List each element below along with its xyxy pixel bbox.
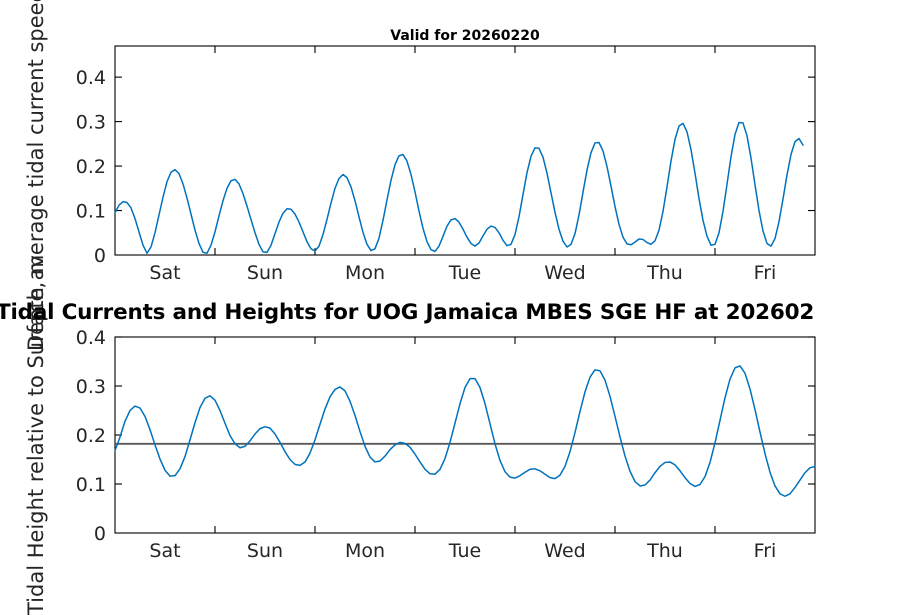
y-tick-label: 0.3 <box>76 112 106 134</box>
bottom-chart-tidal-height: 00.10.20.30.4SatSunMonTueWedThuFri <box>0 300 900 600</box>
data-series-line <box>115 122 803 253</box>
x-tick-label: Mon <box>345 540 385 562</box>
y-tick-label: 0.4 <box>76 327 106 349</box>
plot-box <box>115 337 815 533</box>
x-tick-label: Fri <box>754 262 777 284</box>
x-tick-label: Sun <box>247 540 283 562</box>
tidal-figure: Valid for 20260220 Depth average tidal c… <box>0 0 900 600</box>
top-chart-current-speed: 00.10.20.30.4SatSunMonTueWedThuFri <box>0 0 900 300</box>
x-tick-label: Mon <box>345 262 385 284</box>
y-tick-label: 0 <box>94 245 106 267</box>
x-tick-label: Thu <box>646 262 683 284</box>
x-tick-label: Tue <box>448 262 481 284</box>
data-series-line <box>115 366 815 496</box>
y-tick-label: 0.4 <box>76 67 106 89</box>
y-tick-label: 0.1 <box>76 201 106 223</box>
x-tick-label: Thu <box>646 540 683 562</box>
y-tick-label: 0 <box>94 523 106 545</box>
y-tick-label: 0.1 <box>76 474 106 496</box>
plot-box <box>115 46 815 255</box>
y-tick-label: 0.2 <box>76 156 106 178</box>
page-title: Tidal Currents and Heights for UOG Jamai… <box>0 300 900 325</box>
x-tick-label: Sat <box>149 262 180 284</box>
x-tick-label: Sun <box>247 262 283 284</box>
y-tick-label: 0.2 <box>76 425 106 447</box>
x-tick-label: Wed <box>544 262 585 284</box>
x-tick-label: Tue <box>448 540 481 562</box>
x-tick-label: Fri <box>754 540 777 562</box>
x-tick-label: Sat <box>149 540 180 562</box>
x-tick-label: Wed <box>544 540 585 562</box>
y-tick-label: 0.3 <box>76 376 106 398</box>
